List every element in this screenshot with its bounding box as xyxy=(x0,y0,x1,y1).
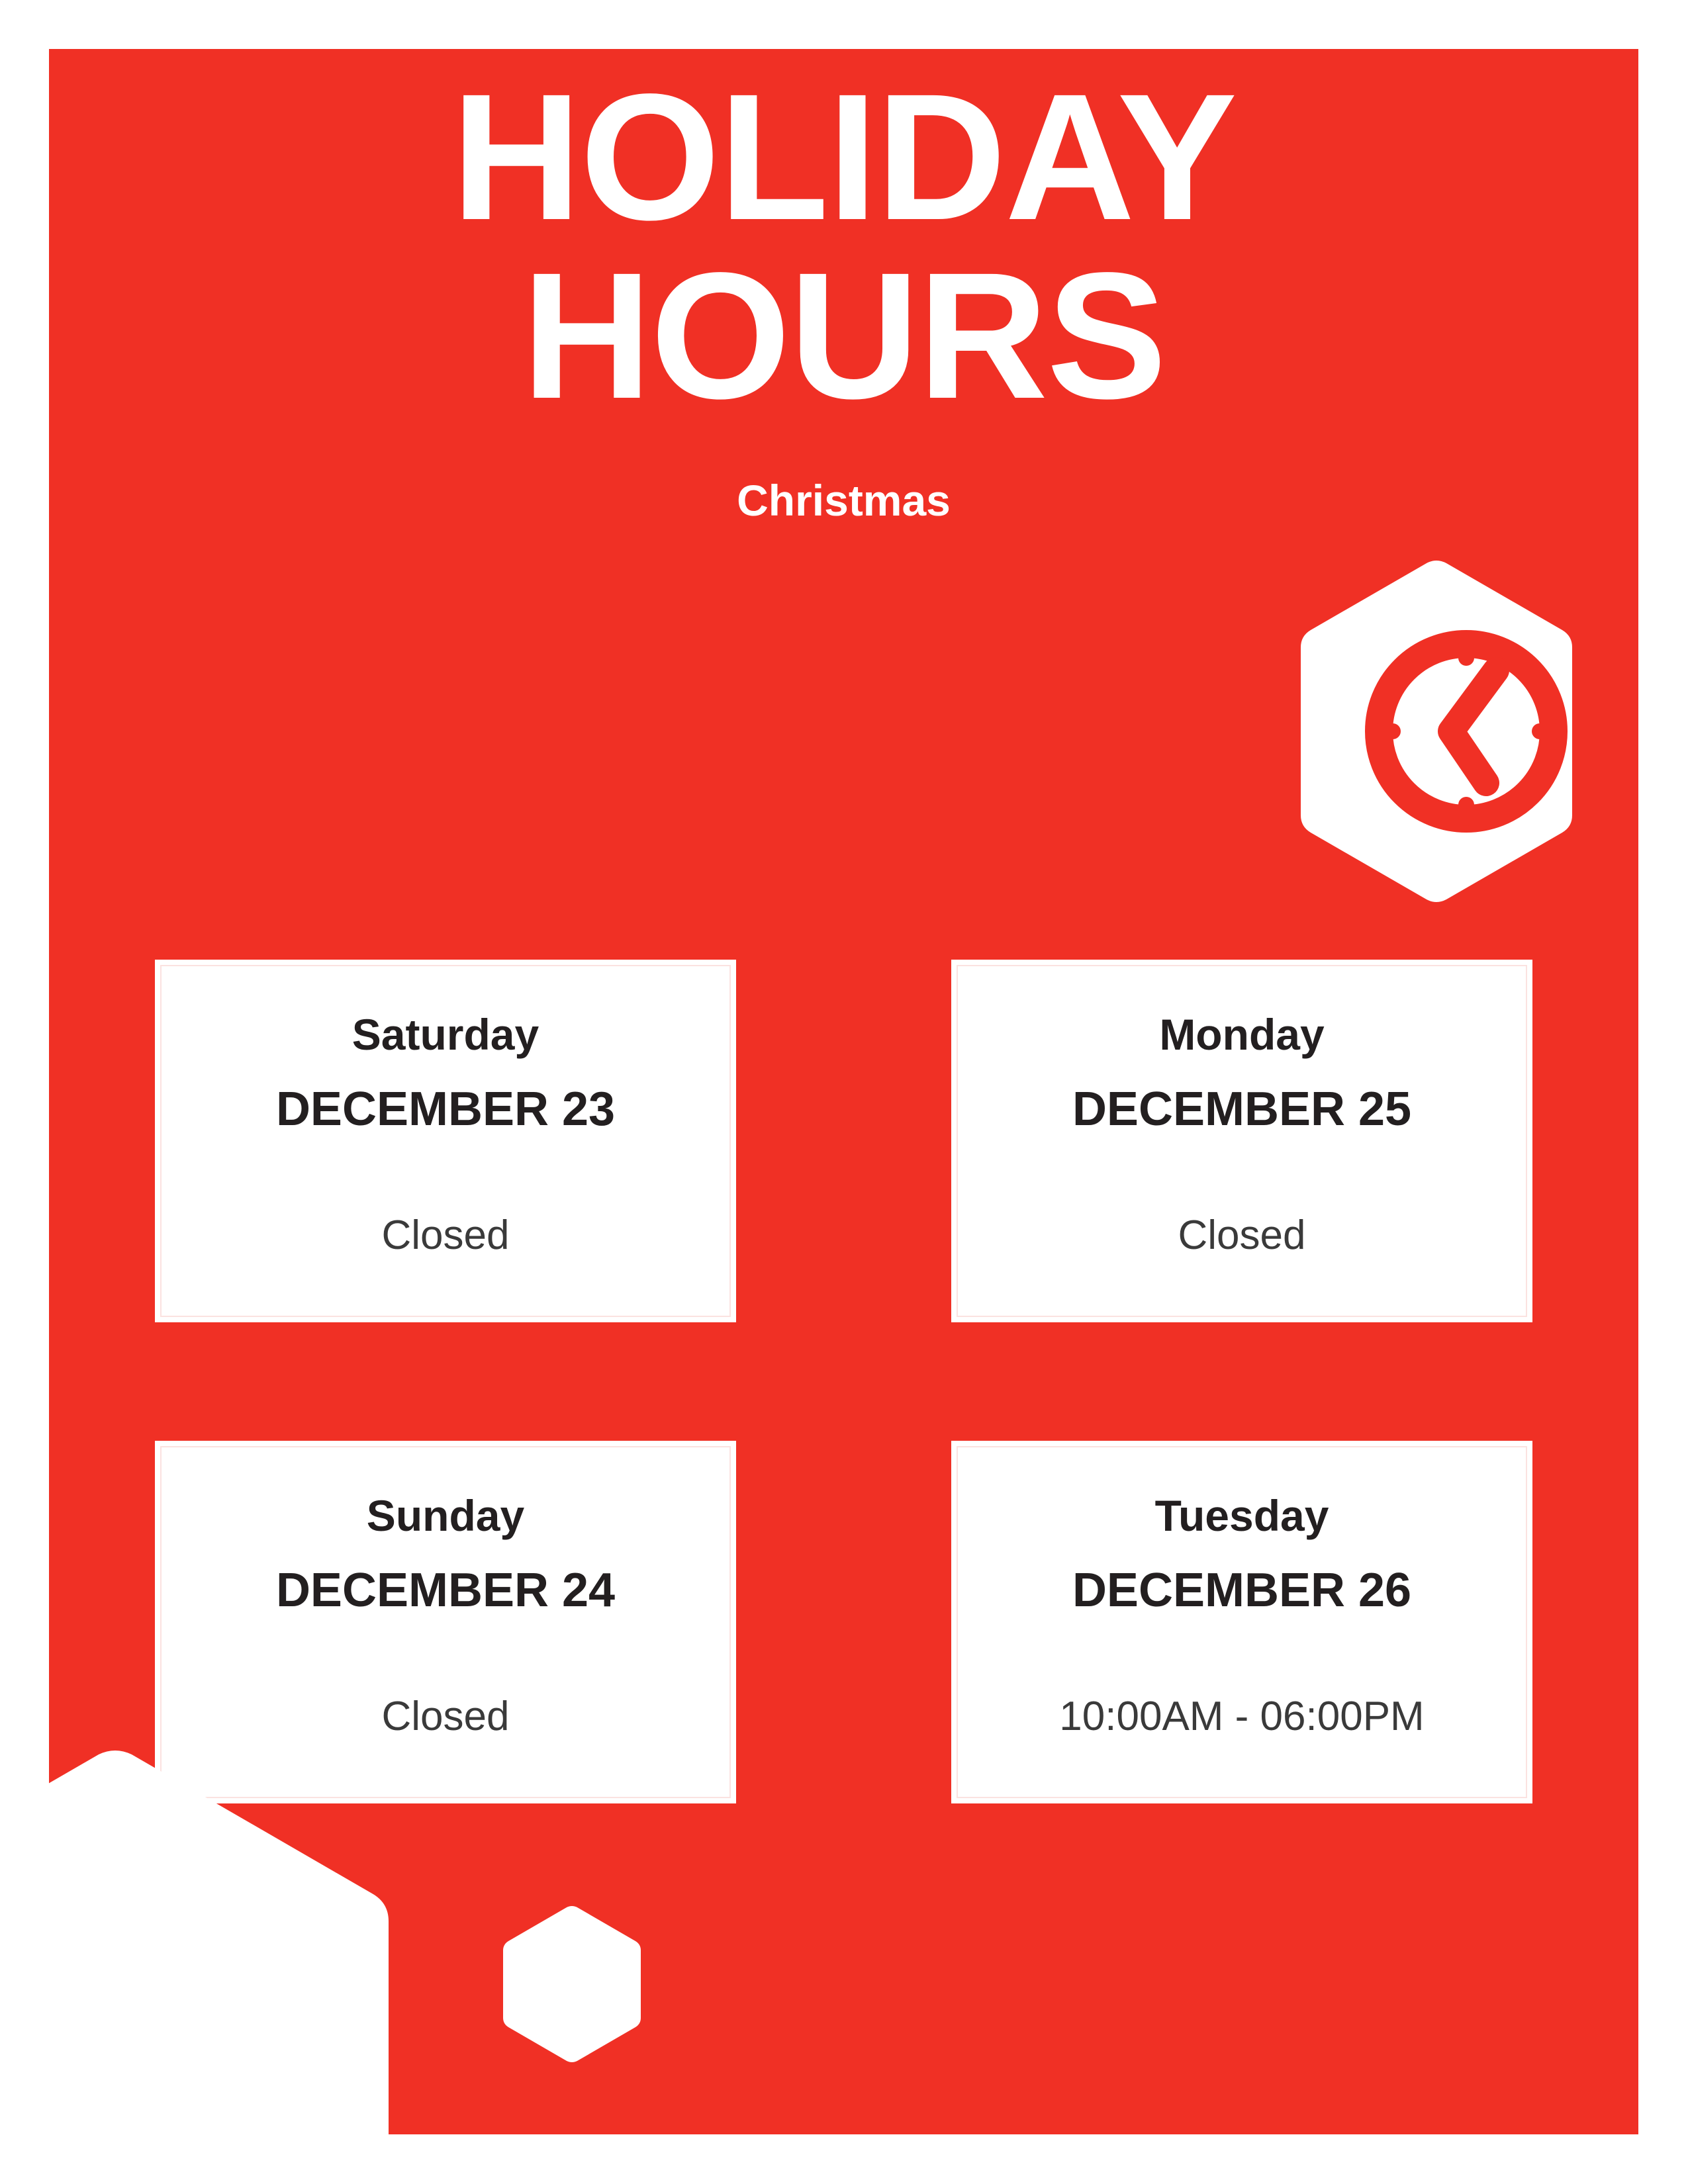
schedule-card[interactable]: Monday DECEMBER 25 Closed xyxy=(951,960,1532,1322)
poster-heading: HOLIDAY HOURS Christmas xyxy=(49,49,1638,522)
card-content: Saturday DECEMBER 23 Closed xyxy=(160,965,731,1317)
card-date-label: DECEMBER 25 xyxy=(1072,1056,1411,1133)
holiday-hours-poster: HOLIDAY HOURS Christmas S xyxy=(0,0,1688,2184)
card-hours-label: Closed xyxy=(1178,1133,1306,1256)
red-background-panel: HOLIDAY HOURS Christmas S xyxy=(49,49,1638,2134)
card-content: Tuesday DECEMBER 26 10:00AM - 06:00PM xyxy=(957,1446,1527,1798)
clock-hexagon-icon xyxy=(1297,559,1575,903)
card-date-label: DECEMBER 23 xyxy=(276,1056,615,1133)
schedule-card-grid: Saturday DECEMBER 23 Closed Monday DECEM… xyxy=(155,960,1532,1803)
poster-subtitle: Christmas xyxy=(49,422,1638,522)
schedule-card[interactable]: Tuesday DECEMBER 26 10:00AM - 06:00PM xyxy=(951,1441,1532,1803)
poster-title-line-1: HOLIDAY xyxy=(49,49,1638,242)
card-date-label: DECEMBER 24 xyxy=(276,1537,615,1614)
card-day-label: Saturday xyxy=(352,965,539,1056)
card-day-label: Tuesday xyxy=(1155,1446,1329,1537)
card-hours-label: Closed xyxy=(382,1133,510,1256)
hexagon-decoration-large xyxy=(49,1747,393,2134)
poster-title-line-2: HOURS xyxy=(49,242,1638,421)
card-content: Monday DECEMBER 25 Closed xyxy=(957,965,1527,1317)
card-day-label: Sunday xyxy=(367,1446,524,1537)
card-hours-label: 10:00AM - 06:00PM xyxy=(1059,1614,1424,1737)
card-hours-label: Closed xyxy=(382,1614,510,1737)
schedule-card[interactable]: Sunday DECEMBER 24 Closed xyxy=(155,1441,736,1803)
card-content: Sunday DECEMBER 24 Closed xyxy=(160,1446,731,1798)
card-day-label: Monday xyxy=(1159,965,1324,1056)
hexagon-decoration-small xyxy=(502,1905,642,2064)
card-date-label: DECEMBER 26 xyxy=(1072,1537,1411,1614)
schedule-card[interactable]: Saturday DECEMBER 23 Closed xyxy=(155,960,736,1322)
